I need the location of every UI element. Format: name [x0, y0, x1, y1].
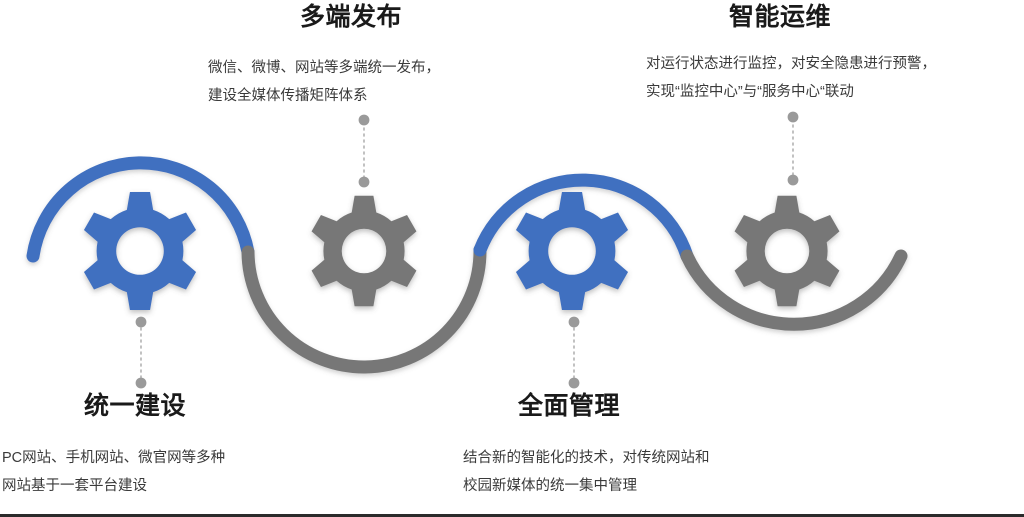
section-body-comprehensive-management: 结合新的智能化的技术，对传统网站和 校园新媒体的统一集中管理 — [463, 444, 710, 501]
connector-intelligent-operations — [788, 112, 799, 186]
section-body-line: 微信、微博、网站等多端统一发布， — [208, 54, 440, 82]
gear-icon-blue-1 — [84, 192, 196, 310]
section-title-comprehensive-management: 全面管理 — [518, 392, 620, 421]
gear-icon-gray-1 — [312, 196, 417, 306]
section-body-line: 结合新的智能化的技术，对传统网站和 — [463, 444, 710, 472]
section-body-line: PC网站、手机网站、微官网等多种 — [2, 444, 225, 472]
section-body-line: 网站基于一套平台建设 — [2, 472, 225, 500]
gear-icon-gray-2 — [735, 196, 840, 306]
section-body-line: 建设全媒体传播矩阵体系 — [208, 82, 440, 110]
section-title-multi-channel-publishing: 多端发布 — [300, 3, 402, 32]
section-body-line: 对运行状态进行监控，对安全隐患进行预警， — [646, 50, 936, 78]
wave-arc-gray-1 — [248, 250, 480, 367]
section-title-intelligent-operations: 智能运维 — [729, 3, 831, 32]
section-body-multi-channel-publishing: 微信、微博、网站等多端统一发布， 建设全媒体传播矩阵体系 — [208, 54, 440, 111]
connector-comprehensive-management — [569, 317, 580, 389]
connector-multi-channel — [359, 115, 370, 188]
section-body-unified-construction: PC网站、手机网站、微官网等多种 网站基于一套平台建设 — [2, 444, 225, 501]
connector-unified-construction — [136, 317, 147, 389]
section-body-line: 校园新媒体的统一集中管理 — [463, 472, 710, 500]
section-title-unified-construction: 统一建设 — [84, 392, 186, 421]
section-body-intelligent-operations: 对运行状态进行监控，对安全隐患进行预警， 实现“监控中心”与“服务中心“联动 — [646, 50, 936, 107]
section-body-line: 实现“监控中心”与“服务中心“联动 — [646, 78, 936, 106]
gear-icon-blue-2 — [516, 192, 628, 310]
infographic-slide: 多端发布 微信、微博、网站等多端统一发布， 建设全媒体传播矩阵体系 智能运维 对… — [0, 0, 1024, 517]
